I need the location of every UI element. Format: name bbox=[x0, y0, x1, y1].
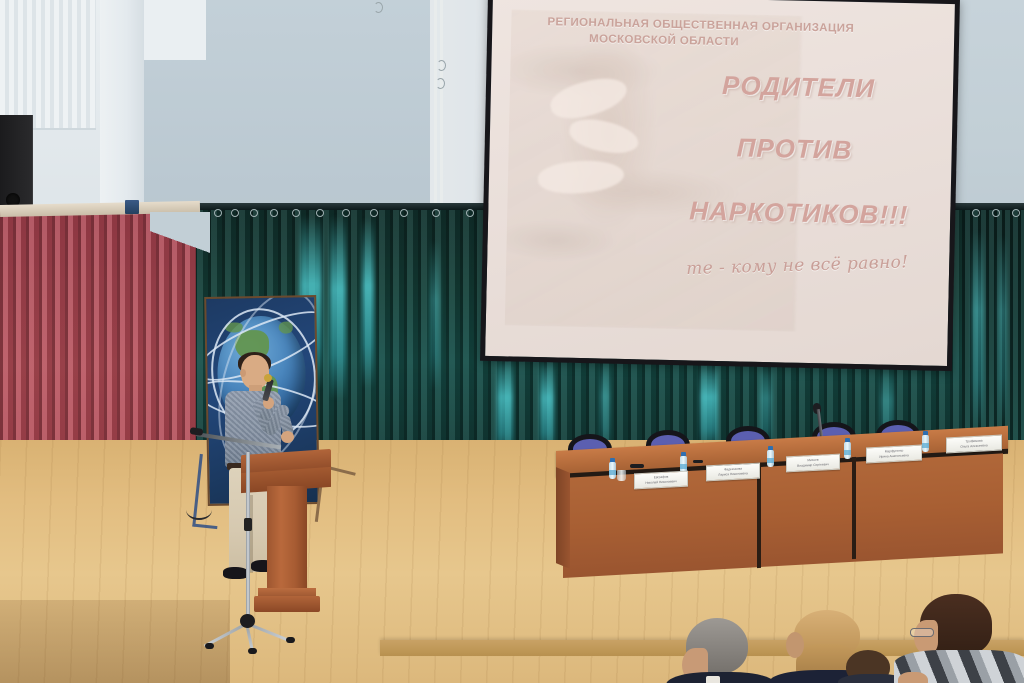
table-section-seam-2 bbox=[852, 457, 856, 559]
projected-slide: РЕГИОНАЛЬНАЯ ОБЩЕСТВЕННАЯ ОРГАНИЗАЦИЯ МО… bbox=[505, 9, 936, 334]
wall-loudspeaker bbox=[0, 115, 33, 215]
audience-face-2 bbox=[786, 632, 804, 658]
name-card-5: Трофимова Ольга Алексеевна bbox=[946, 435, 1002, 454]
name-card-1: Евграфов Николай Николаевич bbox=[634, 471, 688, 490]
audience-member-1 bbox=[672, 618, 782, 683]
mic-stand-clamp bbox=[244, 518, 252, 531]
audience-body-1 bbox=[666, 672, 776, 683]
bottle-label bbox=[844, 450, 851, 455]
name-card-4: Марфутенко Ирина Анатольевна bbox=[866, 445, 922, 464]
name-card-2: Фадеенкова Лариса Николаевна bbox=[706, 463, 760, 482]
curtain-ring bbox=[292, 209, 300, 217]
wall-pipe-1 bbox=[434, 0, 437, 212]
curtain-ring bbox=[231, 209, 239, 217]
curtain-ring bbox=[1012, 209, 1020, 217]
wall-right-section bbox=[430, 0, 490, 230]
curtain-ring bbox=[432, 209, 440, 217]
eyeglasses-icon bbox=[910, 628, 934, 637]
wall-hook-3 bbox=[436, 78, 445, 89]
handheld-microphone-head bbox=[264, 374, 272, 382]
conference-hall-photo: РЕГИОНАЛЬНАЯ ОБЩЕСТВЕННАЯ ОРГАНИЗАЦИЯ МО… bbox=[0, 0, 1024, 683]
floor-shadow-left bbox=[0, 600, 230, 683]
curtain-ring bbox=[400, 209, 408, 217]
curtain-ring bbox=[370, 209, 378, 217]
mic-stand-hub bbox=[240, 614, 255, 628]
curtain-light-band-12 bbox=[998, 235, 1007, 425]
bottle-label bbox=[609, 470, 616, 475]
audience-hand-4 bbox=[898, 672, 928, 683]
curtain-light-band-3 bbox=[362, 218, 374, 388]
presenter-hand-left bbox=[281, 431, 294, 443]
drinking-glass bbox=[617, 470, 626, 481]
bottle-label bbox=[767, 458, 774, 463]
curtain-light-band-2 bbox=[330, 215, 346, 400]
name-card-3: Михеев Владимир Сергеевич bbox=[786, 454, 840, 473]
curtain-light-band-8 bbox=[700, 360, 718, 452]
table-item-small bbox=[693, 460, 703, 463]
slide-headline-1: РОДИТЕЛИ bbox=[722, 70, 875, 104]
audience-face-4 bbox=[914, 620, 938, 654]
curtain-ring bbox=[316, 209, 324, 217]
floor-cable bbox=[186, 500, 212, 520]
bottle-label bbox=[922, 443, 929, 448]
curtain-ring bbox=[972, 209, 980, 217]
curtain-ring bbox=[250, 209, 258, 217]
mic-stand-foot-3 bbox=[248, 648, 257, 654]
slide-headline-2: ПРОТИВ bbox=[736, 132, 852, 166]
curtain-light-band-11 bbox=[972, 230, 984, 430]
audience-collar-1 bbox=[706, 676, 720, 683]
curtain-ring bbox=[992, 209, 1000, 217]
lectern-column bbox=[267, 486, 307, 602]
bottle-label bbox=[680, 464, 687, 469]
window-blinds bbox=[0, 0, 96, 130]
stage-device-box bbox=[125, 200, 139, 214]
table-item-pen bbox=[630, 464, 644, 468]
curtain-ring bbox=[270, 209, 278, 217]
curtain-ring bbox=[342, 209, 350, 217]
curtain-ring bbox=[214, 209, 222, 217]
mic-stand-foot-2 bbox=[205, 643, 214, 649]
wall-upper-white bbox=[144, 0, 206, 60]
curtain-light-band-4 bbox=[430, 240, 440, 390]
audience-member-4 bbox=[900, 594, 1024, 683]
mic-stand-foot-1 bbox=[286, 637, 295, 643]
wall-hook-1 bbox=[374, 2, 383, 13]
wall-pipe-2 bbox=[440, 0, 443, 212]
wall-pillar bbox=[100, 0, 144, 216]
presenter-ear bbox=[240, 369, 246, 377]
curtain-ring bbox=[466, 209, 474, 217]
slide-headline-3: НАРКОТИКОВ!!! bbox=[689, 195, 909, 231]
wall-hook-2 bbox=[437, 60, 446, 71]
presidium-table-side bbox=[556, 467, 570, 569]
projector-screen: РЕГИОНАЛЬНАЯ ОБЩЕСТВЕННАЯ ОРГАНИЗАЦИЯ МО… bbox=[480, 0, 960, 371]
mic-stand-pole bbox=[246, 452, 250, 620]
curtain-top-slant bbox=[150, 212, 210, 272]
lectern-base bbox=[254, 596, 320, 612]
